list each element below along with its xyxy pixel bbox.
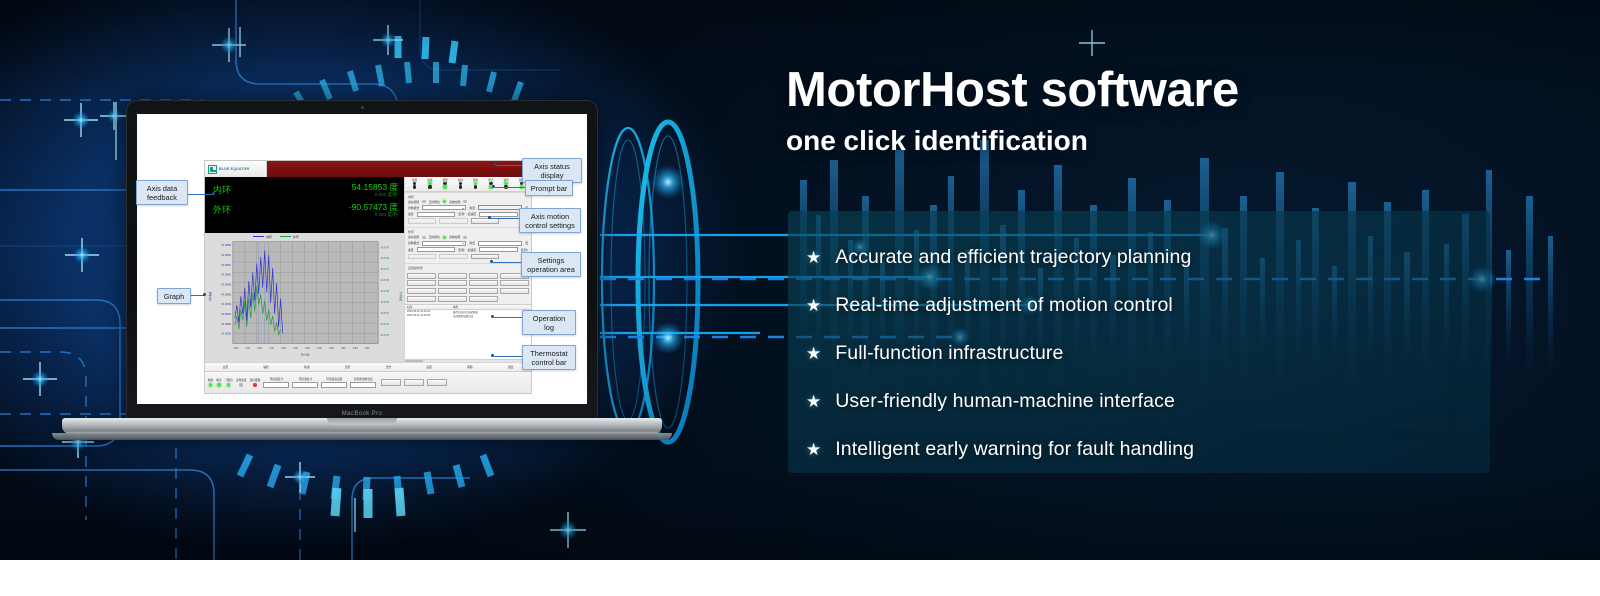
- svg-text:-90.5752: -90.5752: [380, 324, 390, 326]
- page-subtitle: one click identification: [786, 127, 1239, 155]
- action-button[interactable]: [439, 218, 467, 224]
- settings-button-save-close[interactable]: [469, 280, 498, 286]
- outer-axis-settings-group: 外环 运动使能 正向限位 系统使能: [405, 227, 531, 263]
- feature-label: Accurate and efficient trajectory planni…: [835, 246, 1191, 269]
- group-title: 内环: [408, 195, 528, 199]
- inner-axis-rate: 0.000 度/秒: [352, 192, 398, 198]
- callout-line: [497, 165, 522, 166]
- svg-text:0:00: 0:00: [234, 348, 239, 350]
- page-title: MotorHost software: [786, 66, 1239, 115]
- thermo-label: 制冷: [216, 378, 221, 382]
- log-col-event: 事件: [451, 305, 531, 309]
- thermo-label: 达到温度: [236, 378, 247, 382]
- svg-text:-90.5751: -90.5751: [380, 313, 390, 315]
- settings-button-axis-config[interactable]: [407, 280, 436, 286]
- callout-dot: [492, 185, 495, 188]
- field-label: 速度: [408, 248, 414, 252]
- svg-text:0:40: 0:40: [329, 348, 334, 350]
- star-icon: ★: [806, 393, 821, 410]
- settings-button-matrix: [405, 271, 531, 304]
- axis-data-feedback-panel: 内环 54.15853 度 0.000 度/秒 外环: [205, 177, 404, 233]
- svg-text:54.15844: 54.15844: [221, 304, 231, 306]
- svg-text:54.15852: 54.15852: [221, 265, 231, 267]
- star-icon: ★: [806, 297, 821, 314]
- settings-button-inner-zero[interactable]: [407, 296, 436, 302]
- svg-text:-90.5753: -90.5753: [380, 335, 390, 337]
- menu-item-trajectory[interactable]: 轨迹: [304, 365, 310, 369]
- trend-graph: 内环 外环: [205, 233, 404, 362]
- thermo-indicator-alarm: [253, 383, 256, 386]
- callout-line: [494, 317, 522, 318]
- settings-button-file-read[interactable]: [438, 280, 467, 286]
- svg-text:54.15842: 54.15842: [221, 314, 231, 316]
- settings-button-trajectory-send[interactable]: [469, 288, 498, 294]
- system-enable-radio[interactable]: [463, 200, 466, 203]
- field-label: 运动使能: [408, 235, 419, 239]
- menu-strip: 主页 轴控 轨迹 温控 日志 设置 帮助 退出: [205, 362, 531, 371]
- thermo-indicator-cool: [217, 383, 220, 386]
- svg-text:0:10: 0:10: [258, 348, 263, 350]
- thermo-stop-button[interactable]: [427, 379, 447, 386]
- thermo-label: 温控报警: [250, 378, 261, 382]
- blue-equator-logo-icon: [208, 165, 217, 174]
- callout-axis-data-feedback[interactable]: Axis data feedback: [136, 180, 188, 205]
- feature-label: User-friendly human-machine interface: [835, 390, 1175, 413]
- chart-xlabel: 时间 (秒): [301, 352, 310, 356]
- field-label: 速度: [408, 212, 414, 216]
- callout-dot: [491, 315, 494, 318]
- limit-indicator: [443, 200, 446, 203]
- callout-line: [494, 356, 522, 357]
- field-label: 运动使能: [408, 200, 419, 204]
- motorhost-application-window: BLUE EQUATOR 内环: [204, 160, 532, 394]
- svg-text:0:25: 0:25: [293, 348, 298, 350]
- field-label: 控制模式: [408, 241, 419, 245]
- svg-text:0:35: 0:35: [317, 348, 322, 350]
- star-icon: ★: [806, 441, 821, 458]
- svg-text:54.15846: 54.15846: [221, 294, 231, 296]
- laptop-model-label: MacBook Pro: [126, 411, 598, 417]
- settings-button-motion-program[interactable]: [500, 288, 529, 294]
- app-titlebar: BLUE EQUATOR: [205, 161, 531, 177]
- limit-indicator: [443, 236, 446, 239]
- inner-axis-value: 54.15853 度: [352, 183, 398, 192]
- field-label: 控制模式: [408, 206, 419, 210]
- thermo-field-label: 温控器当前温度: [354, 377, 373, 381]
- thermo-indicator-heat: [209, 383, 212, 386]
- system-enable-radio[interactable]: [463, 236, 466, 239]
- svg-text:54.15850: 54.15850: [221, 275, 231, 277]
- callout-dot: [488, 216, 491, 219]
- svg-text:54.15838: 54.15838: [221, 334, 231, 336]
- feature-item-4: ★ User-friendly human-machine interface: [806, 377, 1490, 425]
- acceleration-input[interactable]: [479, 247, 518, 252]
- menu-item-help[interactable]: 帮助: [467, 365, 473, 369]
- banner-stage: BLUE EQUATOR 内环: [0, 0, 1600, 596]
- feedback-row: 外环 -90.57473 度 0.001 度/秒: [213, 203, 398, 218]
- svg-text:54.15840: 54.15840: [221, 324, 231, 326]
- heading-block: MotorHost software one click identificat…: [786, 66, 1239, 155]
- reset-button[interactable]: [471, 254, 499, 260]
- menu-item-axis[interactable]: 轴控: [263, 365, 269, 369]
- thermo-field-label: 环境温度计: [270, 377, 283, 381]
- settings-button-outer-enable[interactable]: [438, 273, 467, 279]
- field-unit: 度: [525, 241, 528, 245]
- callout-line: [493, 262, 521, 263]
- svg-text:-90.5747: -90.5747: [380, 269, 390, 271]
- angle-input[interactable]: [478, 205, 522, 210]
- field-label: 系统使能: [449, 200, 460, 204]
- callout-axis-motion-control-settings[interactable]: Axis motion control settings: [519, 208, 581, 233]
- menu-item-thermal[interactable]: 温控: [345, 365, 351, 369]
- svg-text:0:30: 0:30: [305, 348, 310, 350]
- feature-item-3: ★ Full-function infrastructure: [806, 329, 1490, 377]
- callout-dot: [494, 163, 497, 166]
- settings-operation-area: 设置操作区: [405, 263, 531, 271]
- prompt-bar: [267, 161, 531, 177]
- banner-background: BLUE EQUATOR 内环: [0, 0, 1600, 560]
- operation-log[interactable]: 时间 事件 2023-05-18 14:52:41 轴件已成功完成初始化 202…: [405, 304, 531, 362]
- inner-axis-settings-group: 内环 运动使能 正向限位 系统使能: [405, 192, 531, 228]
- field-label: 加速度: [468, 248, 476, 252]
- chart-svg: 54.1585654.15854 54.1585254.15850 54.158…: [205, 233, 404, 362]
- ambient-temp-setpoint-field[interactable]: [321, 382, 347, 388]
- star-icon: ★: [806, 345, 821, 362]
- settings-button-all-enable[interactable]: [469, 273, 498, 279]
- callout-dot: [491, 354, 494, 357]
- legend-label: 外环: [293, 235, 299, 239]
- callout-dot: [212, 192, 215, 195]
- field-label: 加速度: [468, 212, 476, 216]
- brand-name: BLUE EQUATOR: [219, 167, 249, 171]
- brand-logo: BLUE EQUATOR: [205, 161, 267, 177]
- outer-axis-rate: 0.001 度/秒: [349, 212, 398, 218]
- svg-text:0:45: 0:45: [341, 348, 346, 350]
- field-label: 角度: [469, 241, 475, 245]
- field-label: 角度: [469, 206, 475, 210]
- outer-axis-value: -90.57473 度: [349, 203, 398, 212]
- thermo-indicator-door: [227, 383, 230, 386]
- feature-label: Real-time adjustment of motion control: [835, 294, 1173, 317]
- callout-operation-log[interactable]: Operation log: [522, 310, 576, 335]
- motion-enable-radio[interactable]: [422, 200, 425, 203]
- thermo-start-button[interactable]: [404, 379, 424, 386]
- svg-text:0:20: 0:20: [281, 348, 286, 350]
- feedback-row: 内环 54.15853 度 0.000 度/秒: [213, 183, 398, 198]
- laptop-screen: BLUE EQUATOR 内环: [137, 114, 587, 404]
- svg-text:0:55: 0:55: [365, 348, 370, 350]
- field-label: 正向限位: [429, 200, 440, 204]
- thermostat-control-bar: 制热 制冷 门限位 达到温度 温控报警 环境温度计 环境湿度计 环境温度设置 温…: [205, 371, 531, 393]
- settings-button-trajectory-generate[interactable]: [407, 288, 436, 294]
- control-mode-select[interactable]: [422, 241, 466, 246]
- thermo-settings-button[interactable]: [381, 379, 401, 386]
- feature-item-1: ★ Accurate and efficient trajectory plan…: [806, 233, 1490, 281]
- field-label: 系统使能: [449, 235, 460, 239]
- svg-text:0:15: 0:15: [269, 348, 274, 350]
- thermo-indicator-reached: [239, 383, 242, 386]
- settings-button-startup-config[interactable]: [500, 280, 529, 286]
- motion-enable-radio[interactable]: [422, 236, 425, 239]
- legend-item: 内环: [253, 235, 272, 239]
- velocity-input[interactable]: [417, 212, 456, 217]
- svg-text:-90.5748: -90.5748: [380, 280, 390, 282]
- star-icon: ★: [806, 249, 821, 266]
- acceleration-input[interactable]: [479, 212, 518, 217]
- feature-list-panel: ★ Accurate and efficient trajectory plan…: [788, 211, 1490, 473]
- log-time: 2023-05-18 14:52:46: [405, 314, 451, 318]
- action-button[interactable]: [439, 254, 467, 260]
- action-button[interactable]: [408, 254, 436, 260]
- laptop-notch: [327, 418, 397, 425]
- svg-text:-90.5746: -90.5746: [380, 258, 390, 260]
- velocity-input[interactable]: [417, 247, 456, 252]
- ambient-humidity-field[interactable]: [292, 382, 318, 388]
- settings-area-title: 设置操作区: [408, 266, 528, 270]
- callout-dot: [490, 260, 493, 263]
- chart-legend: 内环 外环: [253, 235, 299, 239]
- action-button[interactable]: [408, 218, 436, 224]
- controller-temp-field[interactable]: [350, 382, 376, 388]
- callout-thermostat-control-bar[interactable]: Thermostat control bar: [522, 345, 576, 370]
- thermo-label: 制热: [208, 378, 213, 382]
- svg-text:54.15854: 54.15854: [221, 255, 231, 257]
- thermo-field-label: 环境温度设置: [326, 377, 342, 381]
- inner-axis-label: 内环: [213, 183, 231, 196]
- callout-prompt-bar[interactable]: Prompt bar: [525, 180, 573, 196]
- legend-label: 内环: [266, 235, 272, 239]
- axis-status-display: 使能 就绪 报警 制动 限位 原点 通讯 温控: [405, 177, 531, 192]
- angle-input[interactable]: [478, 241, 522, 246]
- legend-item: 外环: [280, 235, 299, 239]
- menu-item-log[interactable]: 日志: [386, 365, 392, 369]
- feature-label: Intelligent early warning for fault hand…: [835, 438, 1194, 461]
- reset-button[interactable]: [471, 218, 499, 224]
- outer-axis-label: 外环: [213, 203, 231, 216]
- status-indicator: [413, 185, 416, 188]
- callout-settings-operation-area[interactable]: Settings operation area: [521, 252, 581, 277]
- settings-button-local-control[interactable]: [438, 288, 467, 294]
- feature-label: Full-function infrastructure: [835, 342, 1063, 365]
- svg-text:54.15848: 54.15848: [221, 284, 231, 286]
- svg-text:-90.5749: -90.5749: [380, 291, 390, 293]
- menu-item-home[interactable]: 主页: [223, 365, 229, 369]
- feature-item-5: ★ Intelligent early warning for fault ha…: [806, 425, 1490, 473]
- field-label: 正向限位: [429, 235, 440, 239]
- ambient-temp-field[interactable]: [263, 382, 289, 388]
- log-horizontal-scrollbar[interactable]: [405, 359, 531, 362]
- menu-item-exit[interactable]: 退出: [508, 365, 514, 369]
- status-indicator: [474, 185, 477, 188]
- status-indicator: [443, 185, 446, 188]
- right-column: 使能 就绪 报警 制动 限位 原点 通讯 温控: [405, 177, 531, 362]
- status-indicator: [428, 185, 431, 188]
- callout-line: [495, 187, 525, 188]
- menu-item-settings[interactable]: 设置: [426, 365, 432, 369]
- settings-button-outer-zero[interactable]: [438, 296, 467, 302]
- svg-text:0:50: 0:50: [353, 348, 358, 350]
- svg-text:内环角度: 内环角度: [208, 291, 212, 301]
- status-indicator: [459, 185, 462, 188]
- svg-text:0:05: 0:05: [246, 348, 251, 350]
- group-title: 外环: [408, 230, 528, 234]
- field-unit: 度/秒: [458, 248, 464, 252]
- callout-line: [491, 218, 519, 219]
- left-column: 内环 54.15853 度 0.000 度/秒 外环: [205, 177, 405, 362]
- callout-graph[interactable]: Graph: [157, 288, 191, 304]
- field-unit: 度/秒: [458, 212, 464, 216]
- laptop-foot: [52, 433, 672, 440]
- svg-text:-90.5745: -90.5745: [380, 247, 390, 249]
- log-col-time: 时间: [405, 305, 451, 309]
- svg-text:-90.5750: -90.5750: [380, 302, 390, 304]
- control-mode-select[interactable]: [422, 205, 466, 210]
- callout-line: [188, 194, 214, 195]
- settings-button-all-zero[interactable]: [469, 296, 498, 302]
- svg-text:外环角度: 外环角度: [399, 292, 403, 302]
- bottom-white-strip: [0, 560, 1600, 596]
- feature-item-2: ★ Real-time adjustment of motion control: [806, 281, 1490, 329]
- svg-text:54.15856: 54.15856: [221, 245, 231, 247]
- callout-dot: [203, 293, 206, 296]
- settings-button-inner-enable[interactable]: [407, 273, 436, 279]
- thermo-label: 门限位: [225, 378, 233, 382]
- thermo-field-label: 环境湿度计: [299, 377, 312, 381]
- webcam-icon: [361, 106, 364, 109]
